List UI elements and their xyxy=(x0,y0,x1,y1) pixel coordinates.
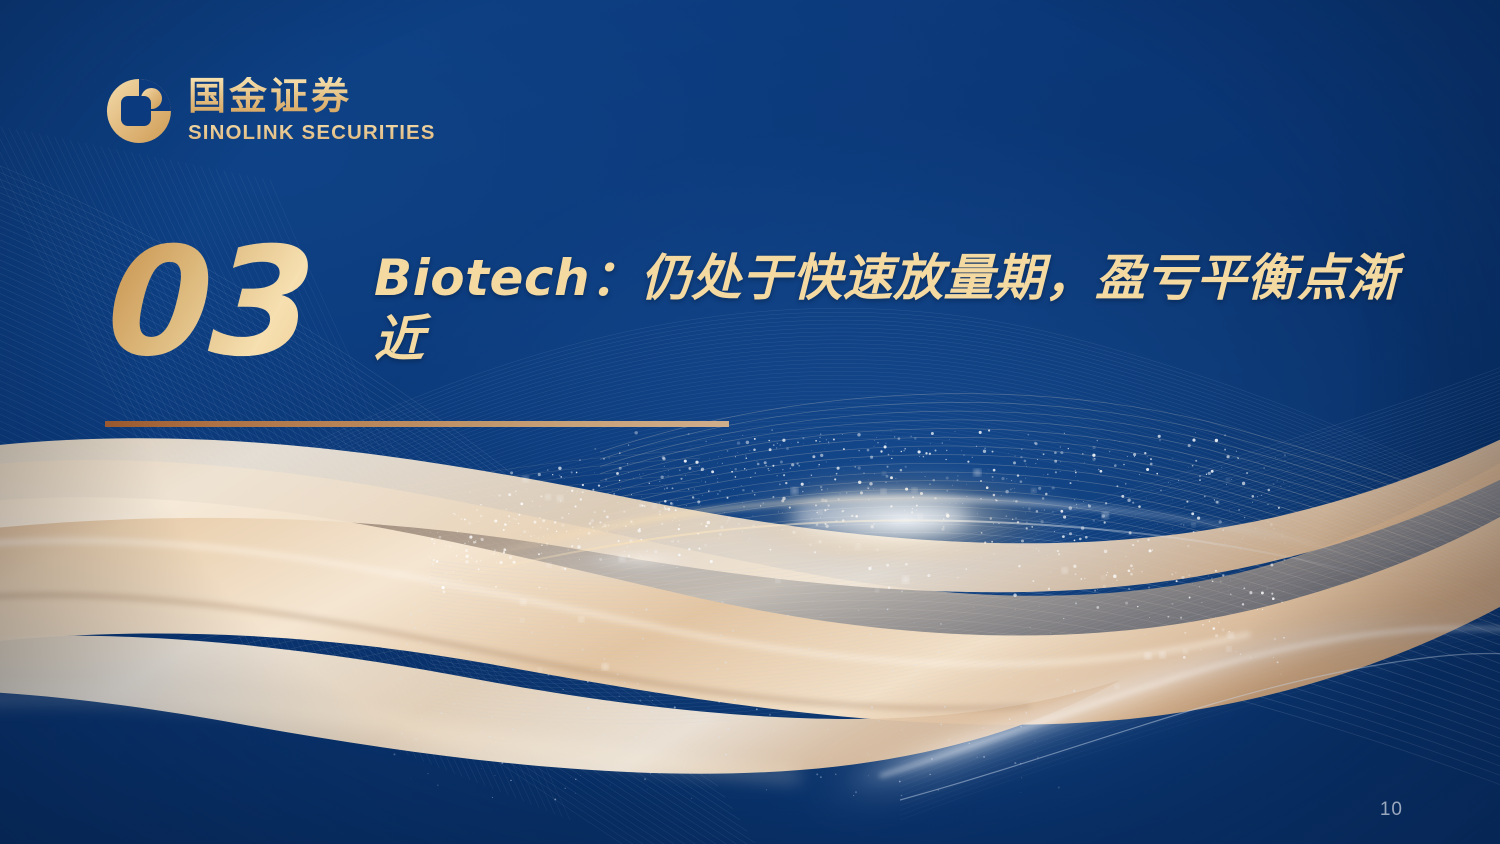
sinolink-circle-emblem-icon xyxy=(104,76,174,146)
title-divider-line xyxy=(105,421,729,427)
logo-name-cn: 国金证券 xyxy=(188,77,436,117)
presentation-slide: 国金证券 SINOLINK SECURITIES 03 Biotech：仍处于快… xyxy=(0,0,1500,844)
page-number: 10 xyxy=(1380,799,1403,821)
section-title-text: Biotech：仍处于快速放量期，盈亏平衡点渐近 xyxy=(374,249,1398,368)
section-title: Biotech：仍处于快速放量期，盈亏平衡点渐近 xyxy=(374,248,1434,370)
section-number: 03 xyxy=(104,228,317,378)
logo-name-en: SINOLINK SECURITIES xyxy=(188,121,436,145)
brand-logo: 国金证券 SINOLINK SECURITIES xyxy=(104,76,436,146)
